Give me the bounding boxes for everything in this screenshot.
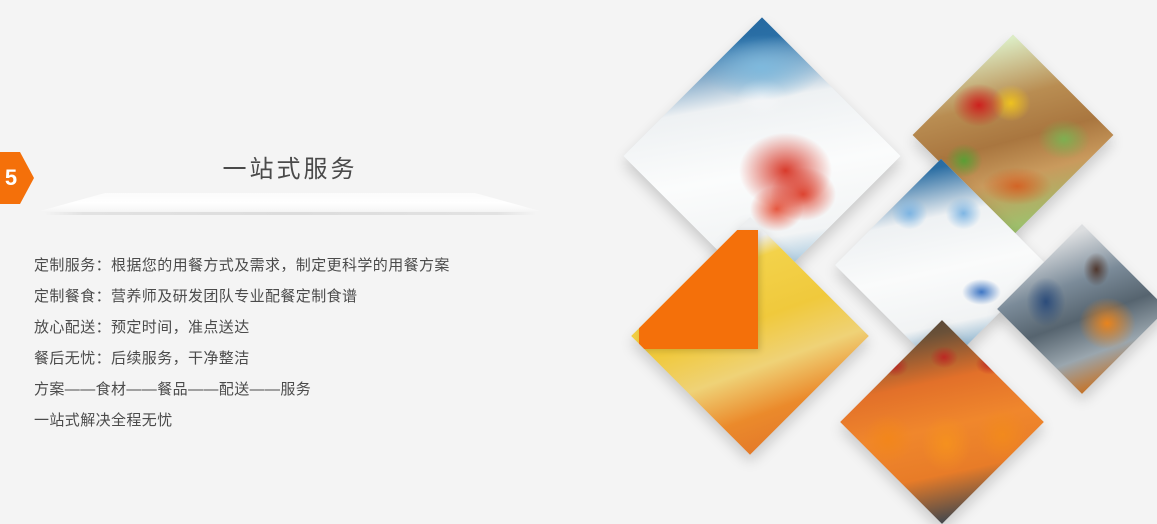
list-item: 定制服务：根据您的用餐方式及需求，制定更科学的用餐方案: [34, 250, 554, 281]
list-item: 一站式解决全程无忧: [34, 405, 554, 436]
list-item: 方案——食材——餐品——配送——服务: [34, 374, 554, 405]
list-item: 放心配送：预定时间，准点送达: [34, 312, 554, 343]
page-title: 一站式服务: [40, 157, 540, 183]
collage-photo-delivery-crew: [840, 320, 1044, 524]
shelf-plate: [40, 193, 540, 211]
shelf-underline: [44, 212, 536, 215]
photo-image-delivery-truck: [631, 217, 869, 455]
photo-image-delivery-crew: [840, 320, 1044, 524]
list-item: 餐后无忧：后续服务，干净整洁: [34, 343, 554, 374]
promo-banner: 5 一站式服务 定制服务：根据您的用餐方式及需求，制定更科学的用餐方案 定制餐食…: [0, 0, 1157, 524]
orange-overlay-square: [639, 230, 757, 348]
list-item: 定制餐食：营养师及研发团队专业配餐定制食谱: [34, 281, 554, 312]
photo-collage: [622, 0, 1157, 524]
step-number-label: 5: [1, 167, 17, 189]
collage-photo-delivery-truck: [631, 217, 869, 455]
service-description-list: 定制服务：根据您的用餐方式及需求，制定更科学的用餐方案 定制餐食：营养师及研发团…: [34, 250, 554, 436]
step-number-badge: 5: [0, 152, 34, 204]
title-shelf-decoration: [40, 193, 540, 217]
left-content-panel: 5 一站式服务 定制服务：根据您的用餐方式及需求，制定更科学的用餐方案 定制餐食…: [0, 0, 600, 524]
